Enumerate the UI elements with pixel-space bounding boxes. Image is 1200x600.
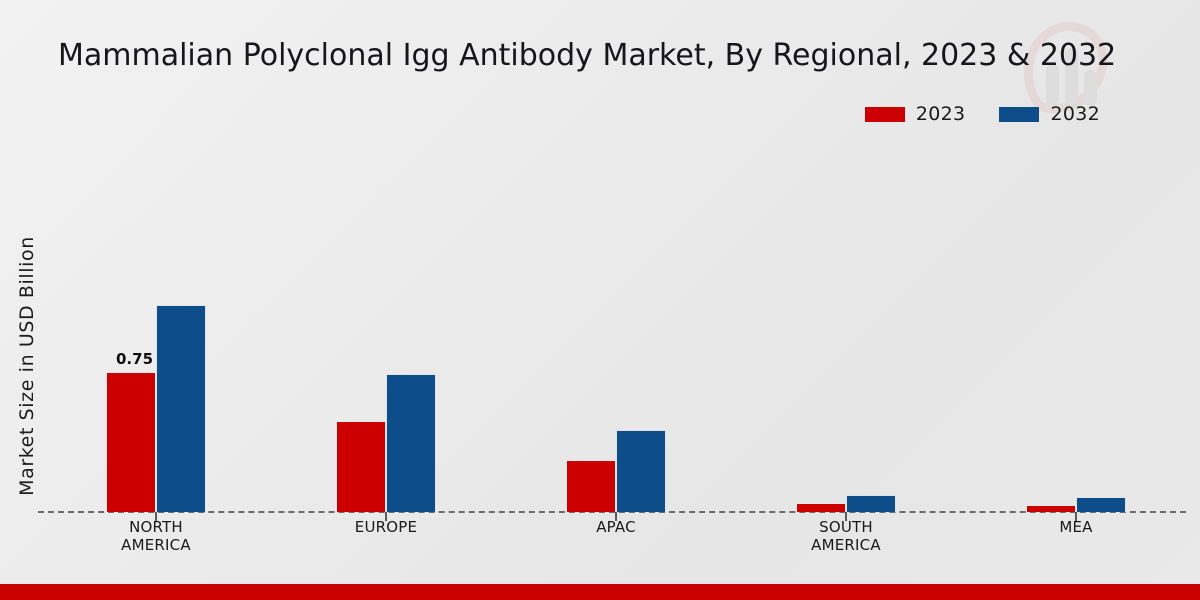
x-axis-label-europe: EUROPE (286, 518, 486, 536)
bar-2032-north-america[interactable] (156, 305, 206, 512)
bar-2023-apac[interactable] (566, 460, 616, 512)
x-axis-label-mea: MEA (976, 518, 1176, 536)
x-axis-label-line: APAC (516, 518, 716, 536)
x-axis-label-line: AMERICA (746, 536, 946, 554)
x-axis-label-line: SOUTH (746, 518, 946, 536)
bar-2023-south-america[interactable] (796, 503, 846, 512)
x-axis-label-apac: APAC (516, 518, 716, 536)
footer-accent-band (0, 584, 1200, 600)
x-axis-label-line: MEA (976, 518, 1176, 536)
x-axis-label-line: EUROPE (286, 518, 486, 536)
bar-2023-north-america[interactable] (106, 372, 156, 512)
plot-area: 0.75NORTHAMERICAEUROPEAPACSOUTHAMERICAME… (0, 0, 1200, 600)
bar-2023-mea[interactable] (1026, 505, 1076, 512)
x-axis-label-north-america: NORTHAMERICA (56, 518, 256, 554)
x-axis-label-line: NORTH (56, 518, 256, 536)
bar-value-label-2023-north-america: 0.75 (116, 350, 153, 368)
bar-2032-mea[interactable] (1076, 497, 1126, 512)
bar-2032-south-america[interactable] (846, 495, 896, 512)
x-axis-label-line: AMERICA (56, 536, 256, 554)
chart-canvas: Mammalian Polyclonal Igg Antibody Market… (0, 0, 1200, 600)
bar-2032-europe[interactable] (386, 374, 436, 512)
bar-2023-europe[interactable] (336, 421, 386, 512)
x-axis-label-south-america: SOUTHAMERICA (746, 518, 946, 554)
bar-2032-apac[interactable] (616, 430, 666, 512)
